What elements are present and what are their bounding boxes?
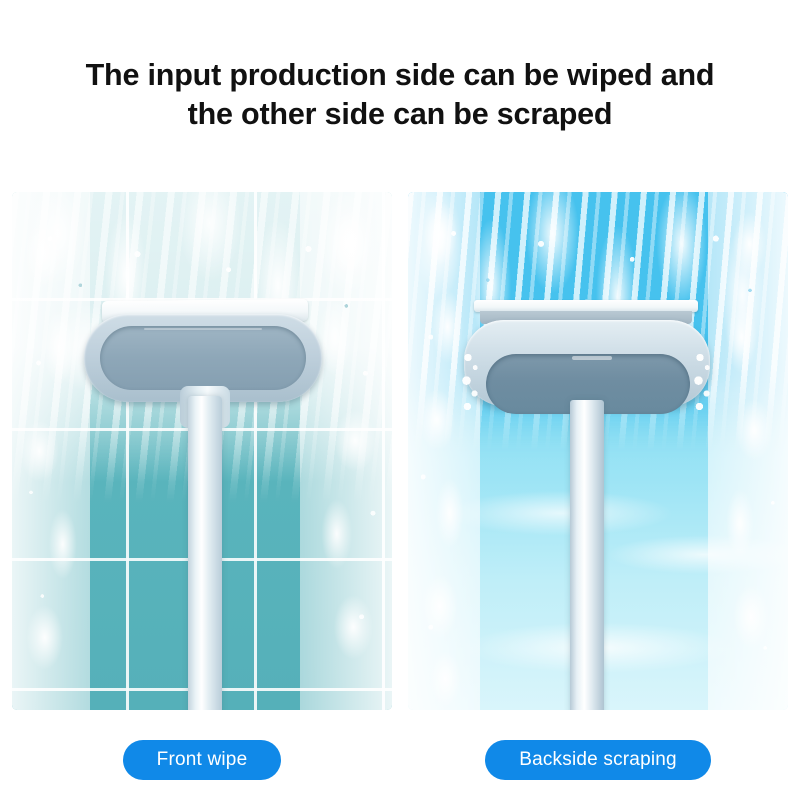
caption-row: Front wipe Backside scraping — [12, 740, 788, 780]
front-wipe-button[interactable]: Front wipe — [123, 740, 282, 780]
panel-front-wipe — [12, 192, 392, 710]
caption-slot-right: Backside scraping — [408, 740, 788, 780]
wiper-handle — [188, 396, 222, 710]
bubble-cluster-left — [456, 346, 486, 418]
wiper-pad-notch — [572, 356, 612, 360]
backside-scraping-button[interactable]: Backside scraping — [485, 740, 711, 780]
wiper-pad-seam — [144, 328, 262, 330]
wiper-head-frame — [464, 320, 710, 406]
wiper-handle — [570, 400, 604, 710]
panel-backside-scraping — [408, 192, 788, 710]
caption-slot-left: Front wipe — [12, 740, 392, 780]
comparison-panels — [12, 192, 788, 710]
page-title: The input production side can be wiped a… — [0, 56, 800, 134]
bubble-cluster-right — [688, 346, 718, 418]
wiper-sponge-pad — [100, 326, 306, 390]
